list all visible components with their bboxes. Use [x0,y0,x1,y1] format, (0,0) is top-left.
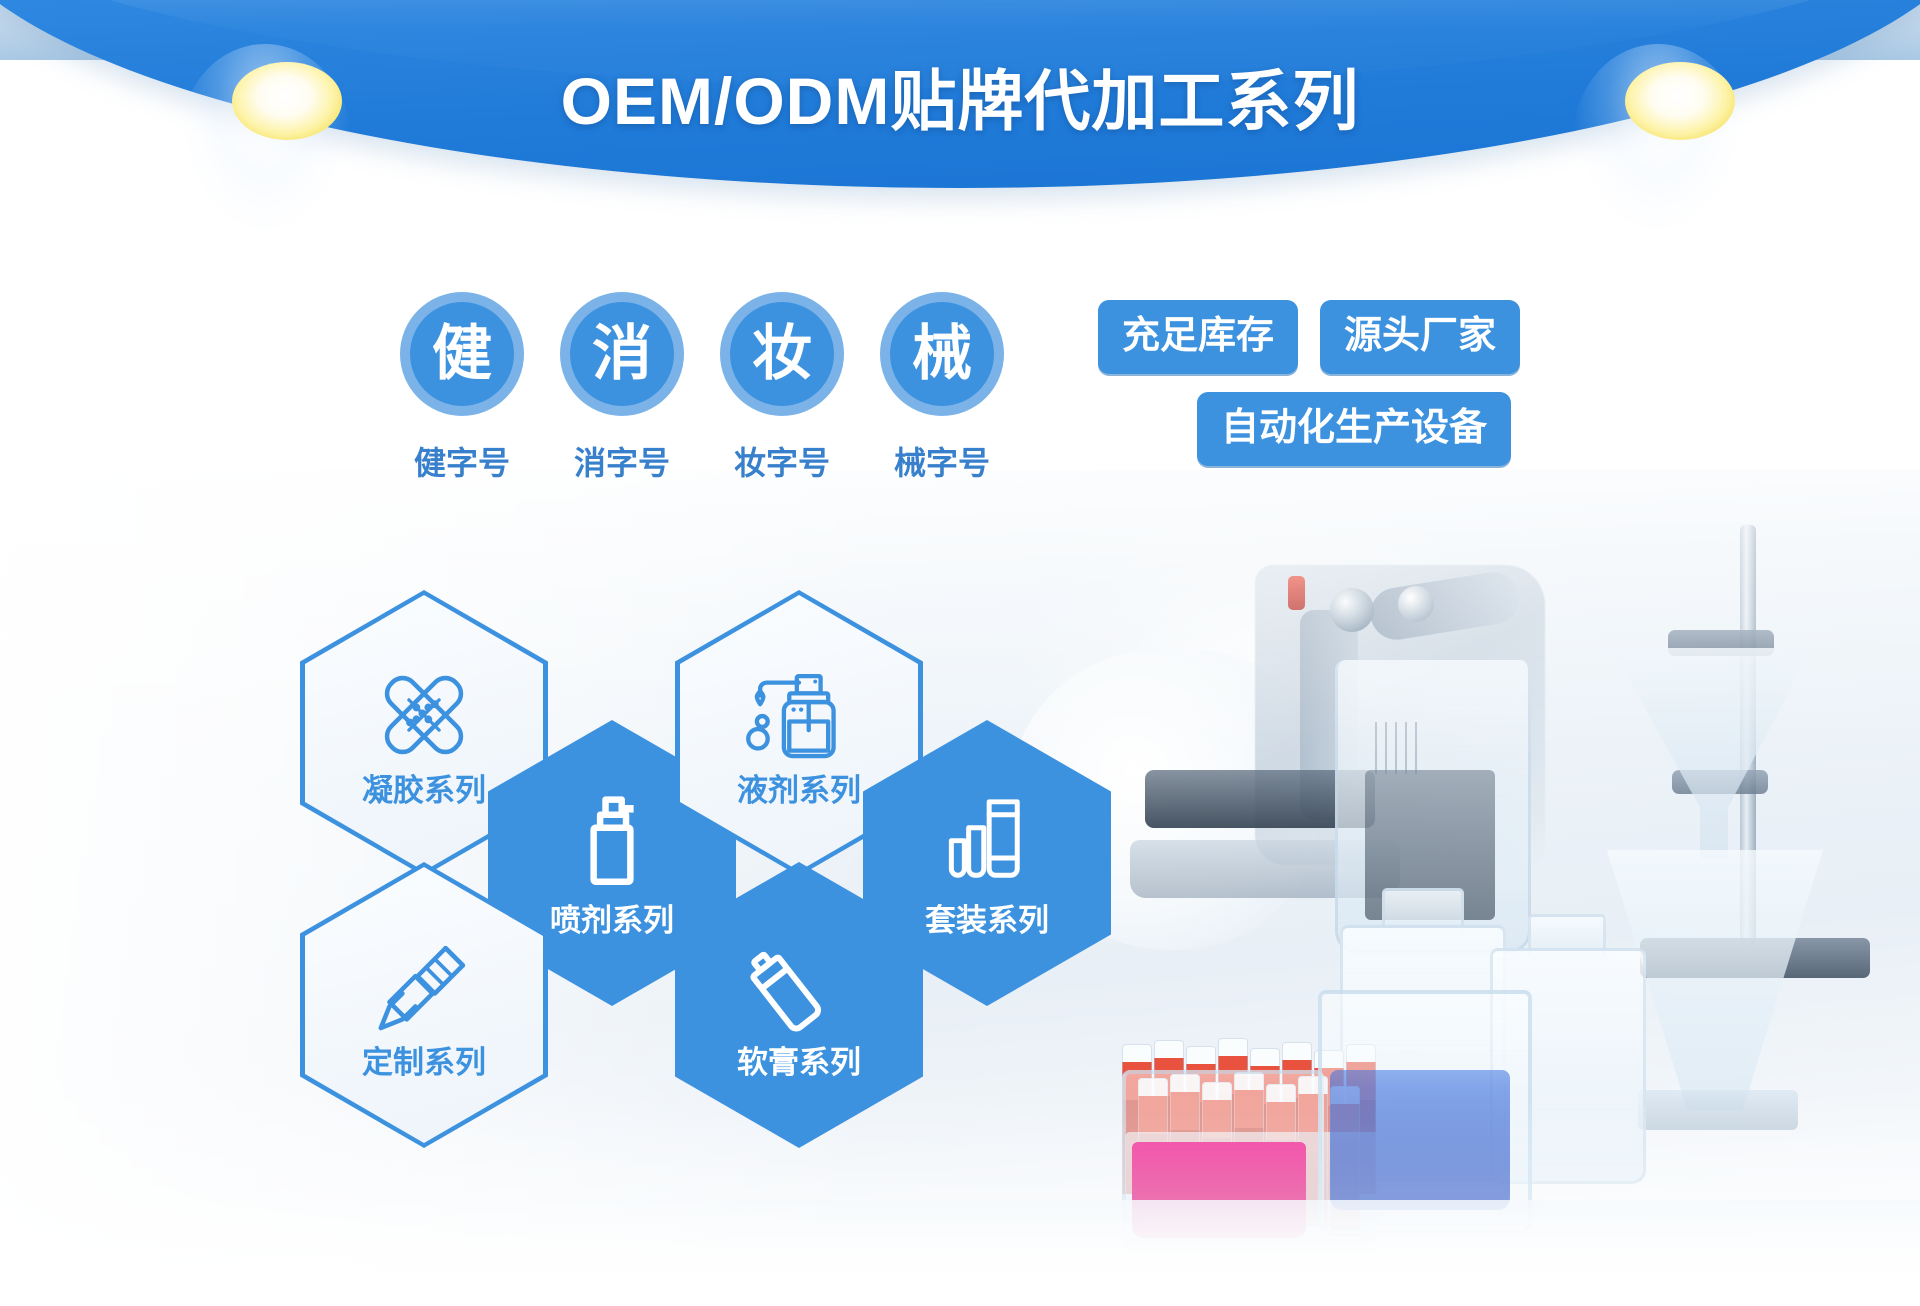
feature-tag-row-1: 充足库存 源头厂家 [1098,300,1618,374]
conical-flask-base [1638,1090,1798,1130]
hex-label: 喷剂系列 [550,905,674,936]
badge-glyph: 健 [410,302,514,406]
badge-xiao[interactable]: 消 消字号 [560,292,684,484]
glass-funnel [1612,648,1812,858]
tag-source-factory[interactable]: 源头厂家 [1320,300,1520,374]
feature-tag-group: 充足库存 源头厂家 自动化生产设备 [1098,300,1618,484]
bandage-icon [370,661,478,769]
badge-glyph: 妆 [730,302,834,406]
hex-label: 定制系列 [362,1047,486,1078]
badge-xie[interactable]: 械 械字号 [880,292,1004,484]
badge-ring: 健 [400,292,524,416]
beaker-graduation-marks [1375,722,1421,774]
microscope-knob [1330,588,1374,632]
badge-glyph: 消 [570,302,674,406]
microscope-knob-secondary [1398,586,1434,622]
hex-series-set[interactable]: 套装系列 [863,720,1111,1006]
syringe-icon [370,933,478,1041]
badge-ring: 妆 [720,292,844,416]
tag-ample-stock[interactable]: 充足库存 [1098,300,1298,374]
spray-bottle-icon [558,791,666,899]
promo-banner: OEM/ODM贴牌代加工系列 健 健字号 消 消字号 妆 妆字号 械 械字号 [0,0,1920,1306]
pump-bottle-icon [745,661,853,769]
page-title: OEM/ODM贴牌代加工系列 [0,68,1920,134]
hex-label: 液剂系列 [737,775,861,806]
hex-label: 凝胶系列 [362,775,486,806]
badge-jian[interactable]: 健 健字号 [400,292,524,484]
hex-label: 软膏系列 [737,1047,861,1078]
certification-badge-row: 健 健字号 消 消字号 妆 妆字号 械 械字号 [400,292,1004,484]
badge-label: 械字号 [894,438,990,484]
badge-zhuang[interactable]: 妆 妆字号 [720,292,844,484]
feature-tag-row-2: 自动化生产设备 [1098,392,1618,466]
product-set-icon [933,791,1041,899]
microscope-red-marker [1288,576,1305,610]
ointment-tube-icon [745,933,853,1041]
hex-series-custom[interactable]: 定制系列 [300,862,548,1148]
badge-ring: 消 [560,292,684,416]
badge-label: 消字号 [574,438,670,484]
blue-liquid [1330,1070,1510,1210]
product-series-hex-grid: 凝胶系列 喷剂系列 [300,590,1200,1190]
tag-automated-equipment[interactable]: 自动化生产设备 [1197,392,1511,466]
badge-glyph: 械 [890,302,994,406]
badge-label: 健字号 [414,438,510,484]
lab-bench-surface [0,1200,1920,1306]
hex-label: 套装系列 [925,905,1049,936]
badge-ring: 械 [880,292,1004,416]
badge-label: 妆字号 [734,438,830,484]
